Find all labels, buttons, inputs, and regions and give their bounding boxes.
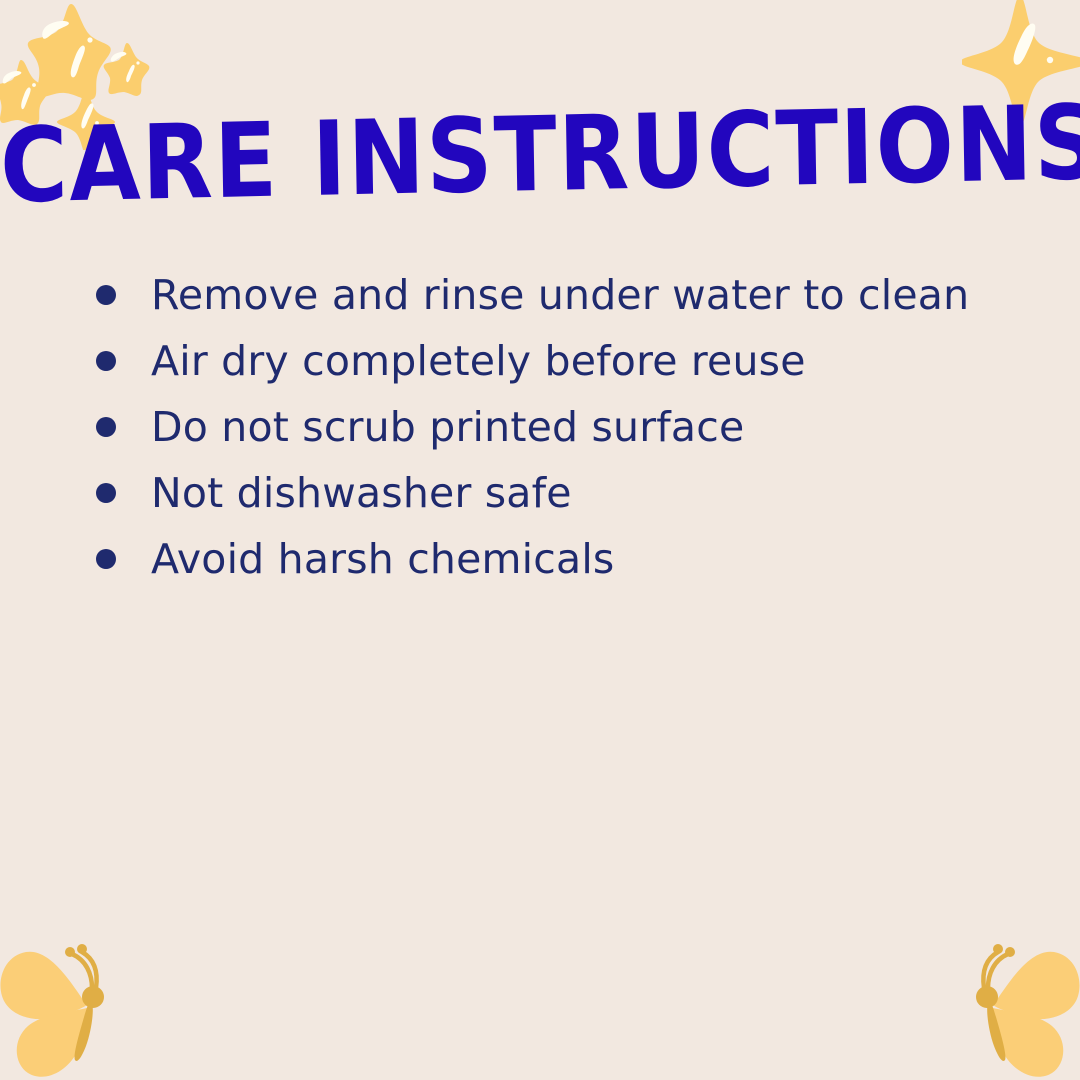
list-item: Remove and rinse under water to clean [96, 262, 996, 328]
list-item: Do not scrub printed surface [96, 394, 996, 460]
butterfly-icon [0, 944, 104, 1077]
list-item: Air dry completely before reuse [96, 328, 996, 394]
care-instructions-list: Remove and rinse under water to clean Ai… [96, 262, 996, 592]
list-item-label: Do not scrub printed surface [151, 407, 744, 448]
bullet-point-icon [96, 417, 116, 437]
list-item-label: Avoid harsh chemicals [151, 539, 615, 580]
page-title: CARE INSTRUCTIONS [0, 90, 1080, 219]
list-item: Not dishwasher safe [96, 460, 996, 526]
title-container: CARE INSTRUCTIONS [0, 46, 1080, 263]
care-instructions-card: CARE INSTRUCTIONS Remove and rinse under… [0, 0, 1080, 1080]
list-item: Avoid harsh chemicals [96, 526, 996, 592]
butterfly-icon [976, 944, 1080, 1077]
bullet-point-icon [96, 483, 116, 503]
bullet-point-icon [96, 285, 116, 305]
bullet-point-icon [96, 351, 116, 371]
list-item-label: Remove and rinse under water to clean [151, 275, 969, 316]
butterfly-decoration-bottom-left [0, 930, 172, 1080]
list-item-label: Not dishwasher safe [151, 473, 572, 514]
list-item-label: Air dry completely before reuse [151, 341, 806, 382]
butterfly-decoration-bottom-right [908, 930, 1080, 1080]
bullet-point-icon [96, 549, 116, 569]
